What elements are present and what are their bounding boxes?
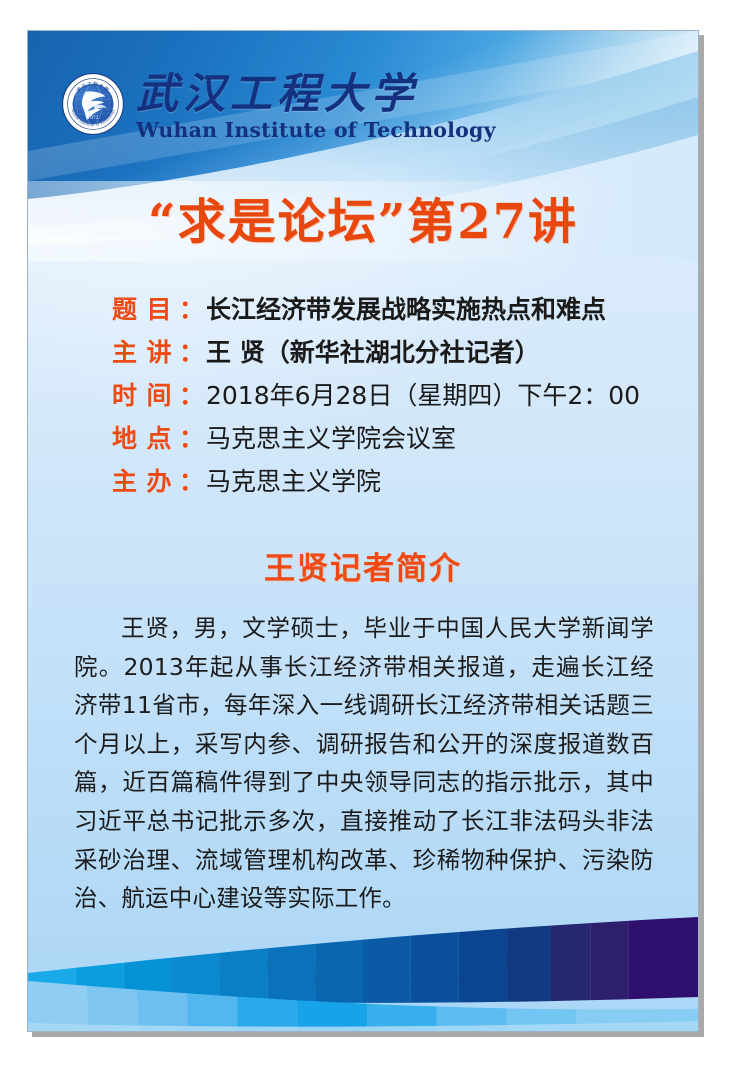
info-value-organizer: 马克思主义学院 [204,465,381,499]
info-row-speaker: 主 讲 ： 王 贤（新华社湖北分社记者） [112,336,670,370]
poster-header: 1972 武汉工程大学 Wuhan Institute of Technolog… [28,31,698,181]
brand-name-cn: 武汉工程大学 [136,71,556,117]
info-row-time: 时 间 ： 2018年6月28日（星期四）下午2：00 [112,379,670,413]
info-label-speaker: 主 讲 ： [112,336,204,370]
info-row-venue: 地 点 ： 马克思主义学院会议室 [112,422,670,456]
info-value-speaker: 王 贤（新华社湖北分社记者） [204,336,540,370]
info-label-organizer: 主 办 ： [112,465,204,499]
info-value-time: 2018年6月28日（星期四）下午2：00 [204,379,640,413]
footer-wave-decoration [28,911,698,1031]
bio-section-body: 王贤，男，文学硕士，毕业于中国人民大学新闻学院。2013年起从事长江经济带相关报… [74,609,654,918]
info-value-venue: 马克思主义学院会议室 [204,422,456,456]
info-value-topic: 长江经济带发展战略实施热点和难点 [204,293,606,327]
page-title: “求是论坛”第27讲 [28,191,698,253]
poster: 1972 武汉工程大学 Wuhan Institute of Technolog… [27,30,699,1032]
info-label-venue: 地 点 ： [112,422,204,456]
info-label-time: 时 间 ： [112,379,204,413]
logo-year-text: 1972 [87,116,98,121]
brand-name-en: Wuhan Institute of Technology [136,118,556,142]
info-label-topic: 题 目 ： [112,293,204,327]
event-info-list: 题 目 ： 长江经济带发展战略实施热点和难点 主 讲 ： 王 贤（新华社湖北分社… [112,293,670,508]
info-row-topic: 题 目 ： 长江经济带发展战略实施热点和难点 [112,293,670,327]
bio-section-title: 王贤记者简介 [28,549,698,589]
info-row-organizer: 主 办 ： 马克思主义学院 [112,465,670,499]
brand-block: 武汉工程大学 Wuhan Institute of Technology [136,71,556,142]
university-seal-logo: 1972 武汉工程大学 Wuhan Institute of Technolog… [62,73,124,135]
